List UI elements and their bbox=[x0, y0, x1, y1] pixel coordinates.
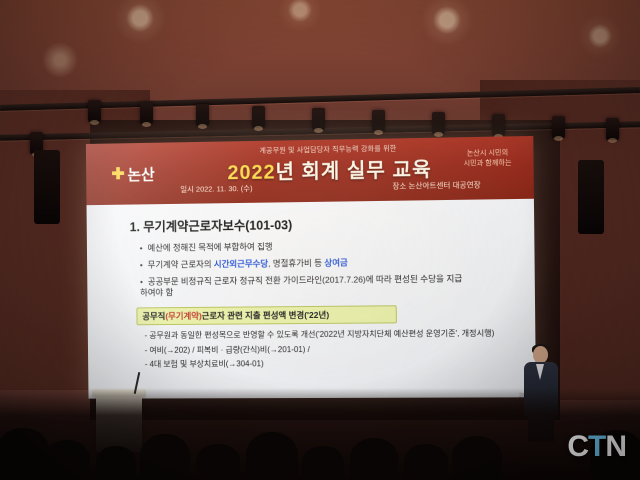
bullet-2-emphasis-2: 상여금 bbox=[324, 258, 348, 268]
presenter-head bbox=[533, 346, 548, 363]
callout-highlight: (무기계약) bbox=[165, 311, 201, 321]
stage-lamp-icon bbox=[252, 106, 265, 128]
audience-head bbox=[246, 432, 298, 480]
audience-head bbox=[196, 444, 240, 480]
logo-mark-icon: ✚ bbox=[111, 164, 124, 184]
slide-bullet-3: •공공부문 비정규직 근로자 정규직 전환 가이드라인(2017.7.26)에 … bbox=[140, 273, 470, 298]
stage-lamp-icon bbox=[196, 104, 209, 126]
bullet-dot-icon: • bbox=[140, 260, 148, 271]
bullet-1-text: 예산에 정해진 목적에 부합하여 집행 bbox=[147, 241, 272, 252]
audience-head bbox=[452, 436, 502, 480]
audience-head bbox=[140, 434, 190, 480]
bullet-2-tail: , 명절휴가비 등 bbox=[268, 258, 324, 269]
stage-lamp-icon bbox=[88, 100, 101, 122]
audience-head bbox=[96, 446, 136, 480]
slide-subbullet-1: - 공무원과 동일한 편성목으로 반영할 수 있도록 개선('2022년 지방자… bbox=[144, 328, 535, 341]
watermark-t: T bbox=[588, 430, 605, 463]
logo-text: 논산 bbox=[127, 163, 154, 184]
slide-bullet-2: •무기계약 근로자의 시간외근무수당, 명절휴가비 등 상여금 bbox=[140, 255, 535, 270]
slide-callout: 공무직(무기계약)근로자 관련 지출 편성액 변경('22년) bbox=[136, 305, 397, 325]
callout-post: 근로자 관련 지출 편성액 변경('22년) bbox=[202, 310, 330, 321]
stage-lamp-icon bbox=[492, 114, 505, 136]
banner-date: 일시 2022. 11. 30. (수) bbox=[180, 183, 252, 195]
watermark-n: N bbox=[605, 430, 626, 463]
slide-bullet-1: •예산에 정해진 목적에 부합하여 집행 bbox=[140, 238, 535, 254]
pa-speaker bbox=[34, 150, 60, 224]
slide-body: 1. 무기계약근로자보수(101-03) •예산에 정해진 목적에 부합하여 집… bbox=[87, 199, 537, 399]
nonsan-logo: ✚ 논산 bbox=[92, 152, 175, 195]
banner-year: 2022 bbox=[227, 162, 275, 185]
audience-head bbox=[44, 440, 90, 480]
stage-lamp-icon bbox=[552, 116, 565, 138]
ctn-watermark: CTN bbox=[567, 430, 626, 464]
bullet-dot-icon: • bbox=[140, 243, 148, 254]
bullet-2-emphasis: 시간외근무수당 bbox=[214, 258, 268, 269]
slide-heading: 1. 무기계약근로자보수(101-03) bbox=[130, 211, 535, 235]
bullet-dot-icon: • bbox=[140, 277, 148, 288]
slide-banner: ✚ 논산 계공무원 및 사업담당자 직무능력 강화를 위한 2022년 회계 실… bbox=[86, 136, 534, 205]
audience-head bbox=[350, 438, 398, 480]
banner-slogan: 논산시 시민의 시민과 함께하는 bbox=[446, 148, 530, 170]
stage-lamp-icon bbox=[432, 112, 445, 134]
pa-speaker bbox=[578, 160, 604, 234]
stage-lamp-icon bbox=[312, 108, 325, 130]
banner-place: 장소 논산아트센터 대공연장 bbox=[392, 179, 480, 191]
stage-lamp-icon bbox=[140, 102, 153, 124]
callout-pre: 공무직 bbox=[142, 311, 165, 321]
bullet-2-text: 무기계약 근로자의 bbox=[148, 259, 214, 270]
bullet-3-text: 공공부문 비정규직 근로자 정규직 전환 가이드라인(2017.7.26)에 따… bbox=[140, 273, 462, 297]
stage-lamp-icon bbox=[372, 110, 385, 132]
banner-date-value: 2022. 11. 30. (수) bbox=[196, 184, 253, 194]
slide-subbullet-3: - 4대 보험 및 부상치료비(→304-01) bbox=[145, 358, 536, 370]
audience-head bbox=[0, 428, 50, 480]
photo-scene: ✚ 논산 계공무원 및 사업담당자 직무능력 강화를 위한 2022년 회계 실… bbox=[0, 0, 640, 480]
projection-screen: ✚ 논산 계공무원 및 사업담당자 직무능력 강화를 위한 2022년 회계 실… bbox=[86, 136, 536, 399]
banner-date-label: 일시 bbox=[180, 185, 194, 194]
stage-lamp-icon bbox=[606, 118, 619, 140]
banner-slogan-line2: 시민과 함께하는 bbox=[446, 158, 530, 169]
audience-head bbox=[404, 444, 448, 480]
banner-place-value: 논산아트센터 대공연장 bbox=[408, 180, 480, 190]
watermark-c: C bbox=[567, 430, 588, 463]
slide-subbullet-2: - 여비(→202) / 피복비 · 급량(간식)비(→201-01) / bbox=[145, 343, 536, 356]
banner-place-label: 장소 bbox=[392, 181, 406, 190]
audience-head bbox=[302, 446, 344, 480]
audience-silhouettes bbox=[0, 388, 640, 480]
